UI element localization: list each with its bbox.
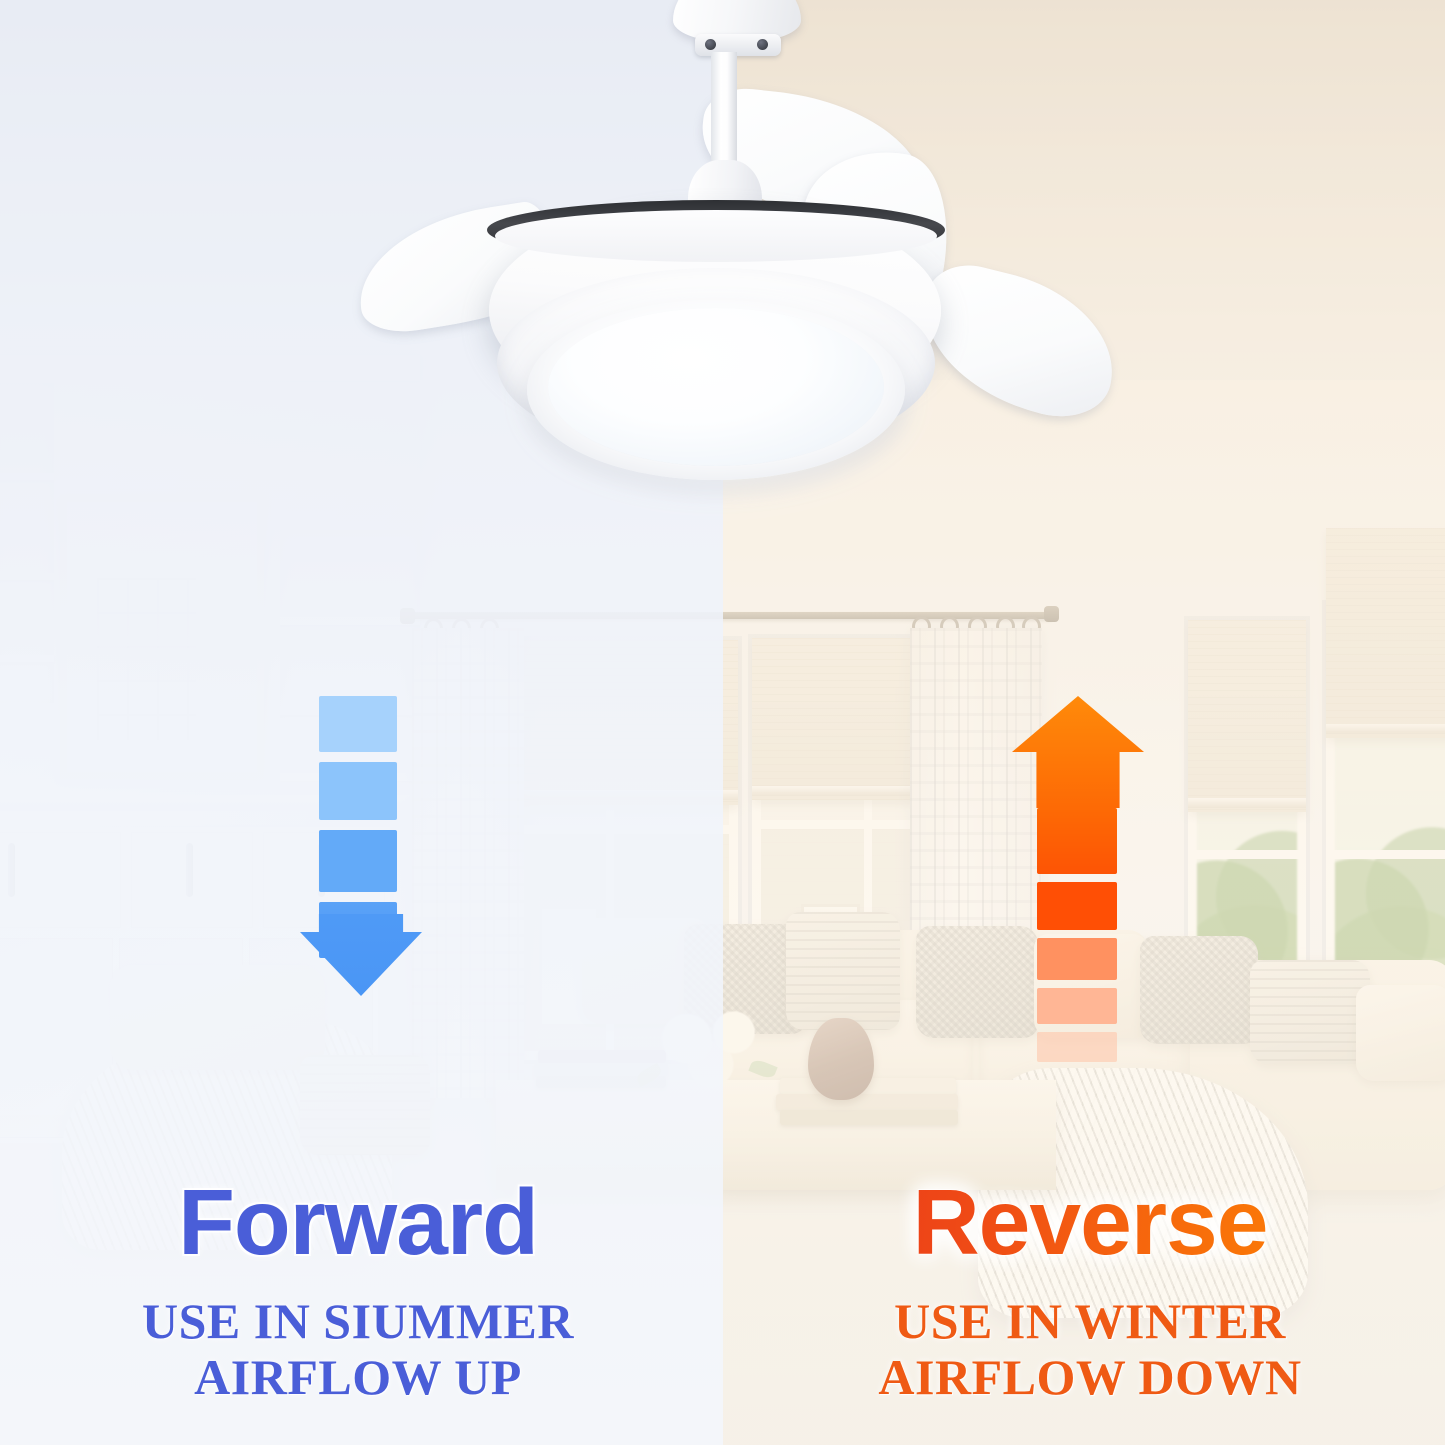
pillow	[1140, 936, 1258, 1044]
roman-shade-far-right-b	[1326, 528, 1445, 738]
flower-arrangement	[648, 1006, 778, 1100]
arrow-segment	[319, 830, 397, 892]
forward-subtitle-line2: AIRFLOW UP	[28, 1349, 688, 1405]
forward-title: Forward	[28, 1176, 688, 1269]
ceiling-fan	[0, 0, 1445, 470]
arrow-segment	[1037, 938, 1117, 980]
coupler-screw	[705, 39, 716, 50]
arrow-segment	[1037, 808, 1117, 874]
pillow	[1250, 960, 1370, 1064]
ceramic-vase	[808, 1018, 874, 1100]
arrow-segment	[1037, 1032, 1117, 1062]
window-mullion	[1188, 850, 1306, 859]
forward-subtitle-line1: USE IN SIUMMER	[28, 1293, 688, 1349]
cabinet-handle	[186, 843, 193, 897]
reverse-subtitle-line1: USE IN WINTER	[760, 1293, 1420, 1349]
coupler-screw	[757, 39, 768, 50]
caption-forward: Forward USE IN SIUMMER AIRFLOW UP	[28, 1176, 688, 1405]
reverse-subtitle-line2: AIRFLOW DOWN	[760, 1349, 1420, 1405]
product-comparison-image: Forward USE IN SIUMMER AIRFLOW UP Revers…	[0, 0, 1445, 1445]
curtain-rod-finial	[400, 608, 415, 624]
window-mullion	[1326, 850, 1445, 859]
book-stack	[776, 1094, 958, 1110]
drape-left	[412, 628, 524, 1098]
arrow-segment	[319, 696, 397, 752]
shelf-board	[0, 573, 54, 580]
pillow	[786, 912, 900, 1030]
arrow-segment	[1037, 882, 1117, 930]
chair-cushion	[110, 965, 325, 1070]
caption-reverse: Reverse USE IN WINTER AIRFLOW DOWN	[760, 1176, 1420, 1405]
framed-artwork	[60, 495, 264, 779]
roman-shade-center	[488, 640, 738, 805]
airflow-arrow-down	[300, 696, 422, 996]
roman-shade-far-right-a	[1188, 620, 1306, 812]
pillow	[1356, 985, 1445, 1081]
fan-led-light-panel	[548, 308, 884, 466]
fan-blade-right	[905, 256, 1130, 429]
cabinet-door	[0, 827, 126, 933]
fan-housing-top-face	[495, 210, 937, 262]
arrow-head-up	[1012, 696, 1144, 808]
cabinet-handle	[8, 843, 15, 897]
shade-fold	[488, 790, 738, 800]
fan-downrod	[711, 52, 737, 177]
arrow-segment	[1037, 988, 1117, 1024]
shade-fold	[1326, 724, 1445, 734]
shelf-board	[0, 655, 54, 662]
shelf-board	[280, 617, 420, 625]
fan-downrod-coupler	[695, 34, 781, 56]
curtain-rod-finial	[1044, 606, 1059, 622]
arrow-segment	[319, 762, 397, 820]
curtain-rod	[408, 612, 1053, 619]
shelf-board	[0, 473, 54, 480]
reverse-title: Reverse	[760, 1176, 1420, 1269]
book-stack	[780, 1110, 958, 1125]
book-stack	[538, 1050, 666, 1063]
shade-fold	[1188, 798, 1306, 808]
airflow-arrow-up	[1012, 696, 1144, 996]
chair-throw-pillow	[300, 1055, 430, 1155]
